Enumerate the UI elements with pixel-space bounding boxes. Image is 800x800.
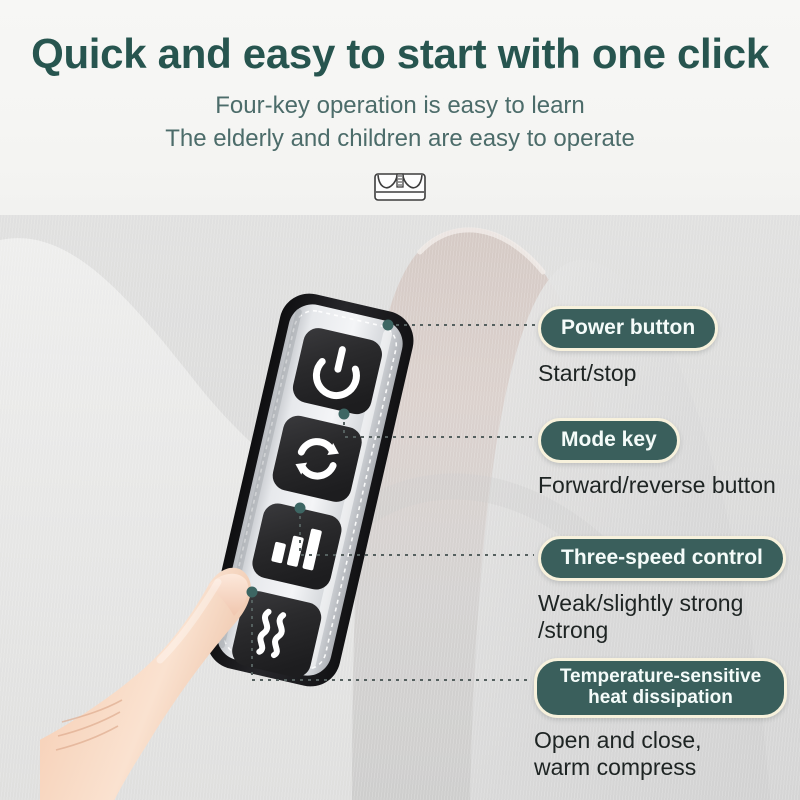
callout-speed: Three-speed control Weak/slightly strong…: [538, 536, 786, 644]
badge-temperature-sensitive-heat-dissipation[interactable]: Temperature-sensitive heat dissipation: [534, 658, 787, 718]
callout-mode: Mode key Forward/reverse button: [538, 418, 776, 499]
callout-heat: Temperature-sensitive heat dissipation O…: [534, 658, 787, 781]
badge-mode-key[interactable]: Mode key: [538, 418, 680, 463]
infographic-canvas: Quick and easy to start with one click F…: [0, 0, 800, 800]
badge-power-button[interactable]: Power button: [538, 306, 718, 351]
callout-power: Power button Start/stop: [538, 306, 718, 387]
marker-dot-speed: [295, 503, 306, 514]
desc-temperature-sensitive-heat-dissipation: Open and close, warm compress: [534, 727, 787, 781]
desc-power-button: Start/stop: [538, 360, 718, 387]
desc-mode-key: Forward/reverse button: [538, 472, 776, 499]
badge-three-speed-control[interactable]: Three-speed control: [538, 536, 786, 581]
marker-dot-power: [383, 320, 394, 331]
desc-three-speed-control: Weak/slightly strong /strong: [538, 590, 786, 644]
marker-dot-mode: [339, 409, 350, 420]
marker-dot-heat: [247, 587, 258, 598]
